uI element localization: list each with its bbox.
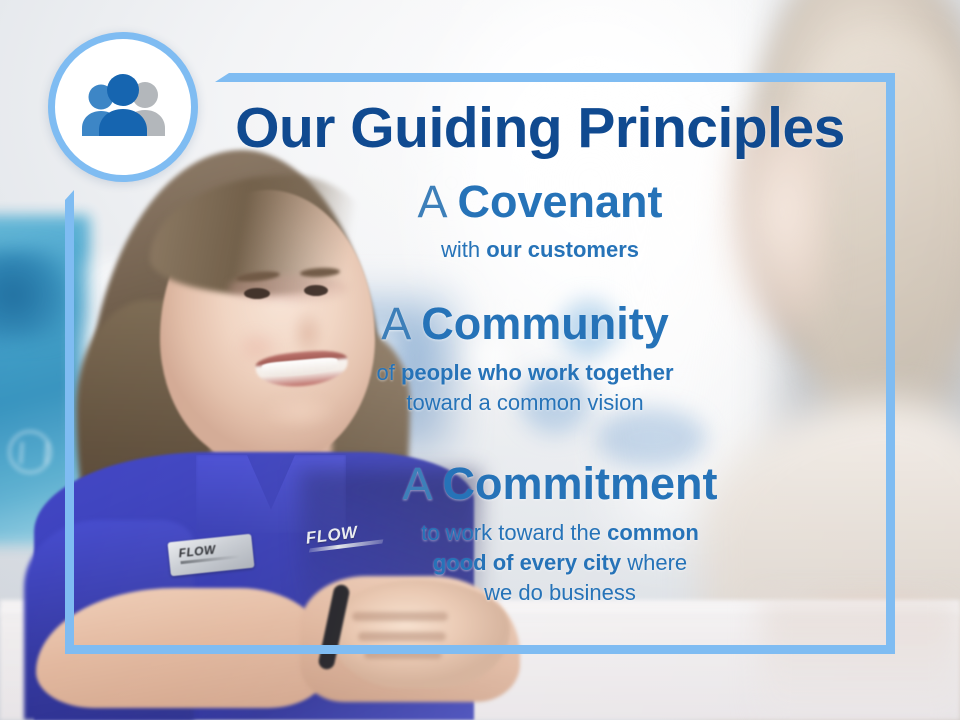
principle-commitment-sub-line2: good of every city where <box>215 548 905 578</box>
badge-circle <box>48 32 198 182</box>
principle-covenant-article: A <box>417 176 457 227</box>
principle-covenant-subtext: with our customers <box>195 235 885 265</box>
principle-commitment-sub-bold: common <box>607 520 699 545</box>
page-title: Our Guiding Principles <box>200 95 880 161</box>
principle-commitment-sub-line3: we do business <box>215 578 905 608</box>
principle-covenant-sub-pre: with <box>441 237 486 262</box>
principle-covenant-keyword: Covenant <box>458 176 663 227</box>
principle-commitment-sub-line1: to work toward the common <box>215 518 905 548</box>
principle-community-sub-line2: toward a common vision <box>195 388 855 418</box>
principle-community-sub-line1: of people who work together <box>195 358 855 388</box>
principle-community-heading: A Community <box>195 300 855 348</box>
principle-community-keyword: Community <box>421 298 669 349</box>
principle-commitment-sub-line2-post: where <box>621 550 687 575</box>
guiding-principles-graphic: FLOW FLOW <box>0 0 960 720</box>
principle-community: A Community of people who work together … <box>195 300 855 418</box>
principle-commitment-sub-pre: to work toward the <box>421 520 607 545</box>
principle-commitment-keyword: Commitment <box>443 458 718 509</box>
principle-community-sub-bold: people who work together <box>401 360 674 385</box>
principle-community-subtext: of people who work together toward a com… <box>195 358 855 419</box>
principle-commitment-sub-line2-bold: good of every city <box>433 550 621 575</box>
principle-community-sub-pre: of <box>376 360 400 385</box>
principle-commitment: A Commitment to work toward the common g… <box>215 460 905 609</box>
principle-commitment-subtext: to work toward the common good of every … <box>215 518 905 609</box>
people-group-icon <box>75 74 171 140</box>
frame-border-top <box>215 73 895 82</box>
frame-border-bottom <box>65 645 895 654</box>
principle-covenant-sub-bold: our customers <box>486 237 639 262</box>
principle-commitment-article: A <box>402 458 442 509</box>
principle-covenant-heading: A Covenant <box>195 178 885 226</box>
principle-covenant: A Covenant with our customers <box>195 178 885 265</box>
principle-community-article: A <box>381 298 421 349</box>
frame-border-left <box>65 190 74 654</box>
principle-commitment-heading: A Commitment <box>215 460 905 508</box>
